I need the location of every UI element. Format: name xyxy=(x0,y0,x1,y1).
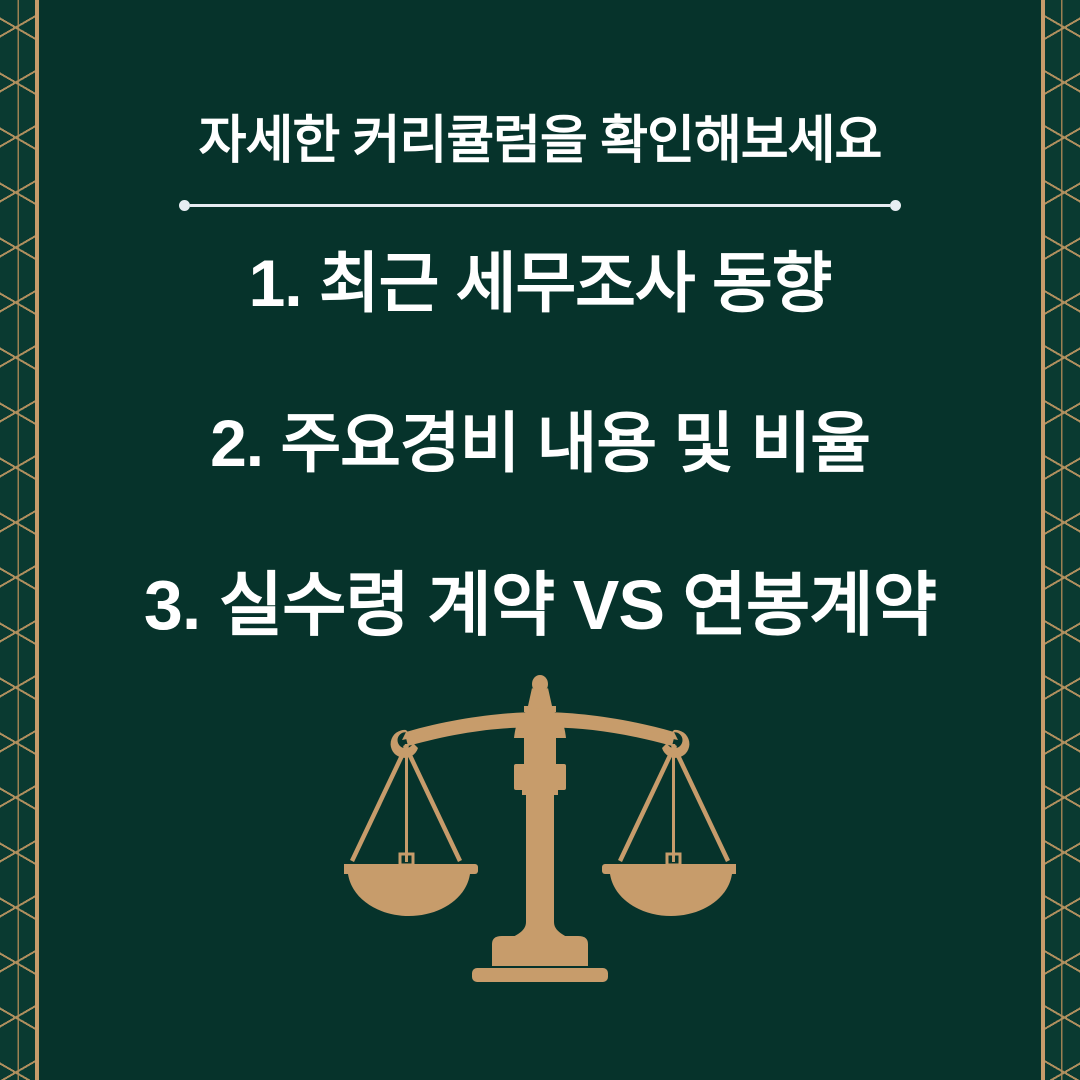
curriculum-item-3: 3. 실수령 계약 VS 연봉계약 xyxy=(39,569,1041,643)
curriculum-item-1: 1. 최근 세무조사 동향 xyxy=(39,249,1041,318)
content-stage: 자세한 커리큘럼을 확인해보세요 1. 최근 세무조사 동향 2. 주요경비 내… xyxy=(39,0,1041,1080)
divider-dot-right-icon xyxy=(890,200,901,211)
title-divider xyxy=(179,199,901,211)
curriculum-item-2: 2. 주요경비 내용 및 비율 xyxy=(39,409,1041,478)
left-border-pattern xyxy=(0,0,38,1080)
poster-canvas: 자세한 커리큘럼을 확인해보세요 1. 최근 세무조사 동향 2. 주요경비 내… xyxy=(0,0,1080,1080)
divider-line xyxy=(190,204,890,207)
divider-dot-left-icon xyxy=(179,200,190,211)
balance-scales-icon xyxy=(344,672,736,1002)
right-border-pattern xyxy=(1042,0,1080,1080)
page-title: 자세한 커리큘럼을 확인해보세요 xyxy=(39,113,1041,170)
right-border-gold-rule xyxy=(1041,0,1045,1080)
